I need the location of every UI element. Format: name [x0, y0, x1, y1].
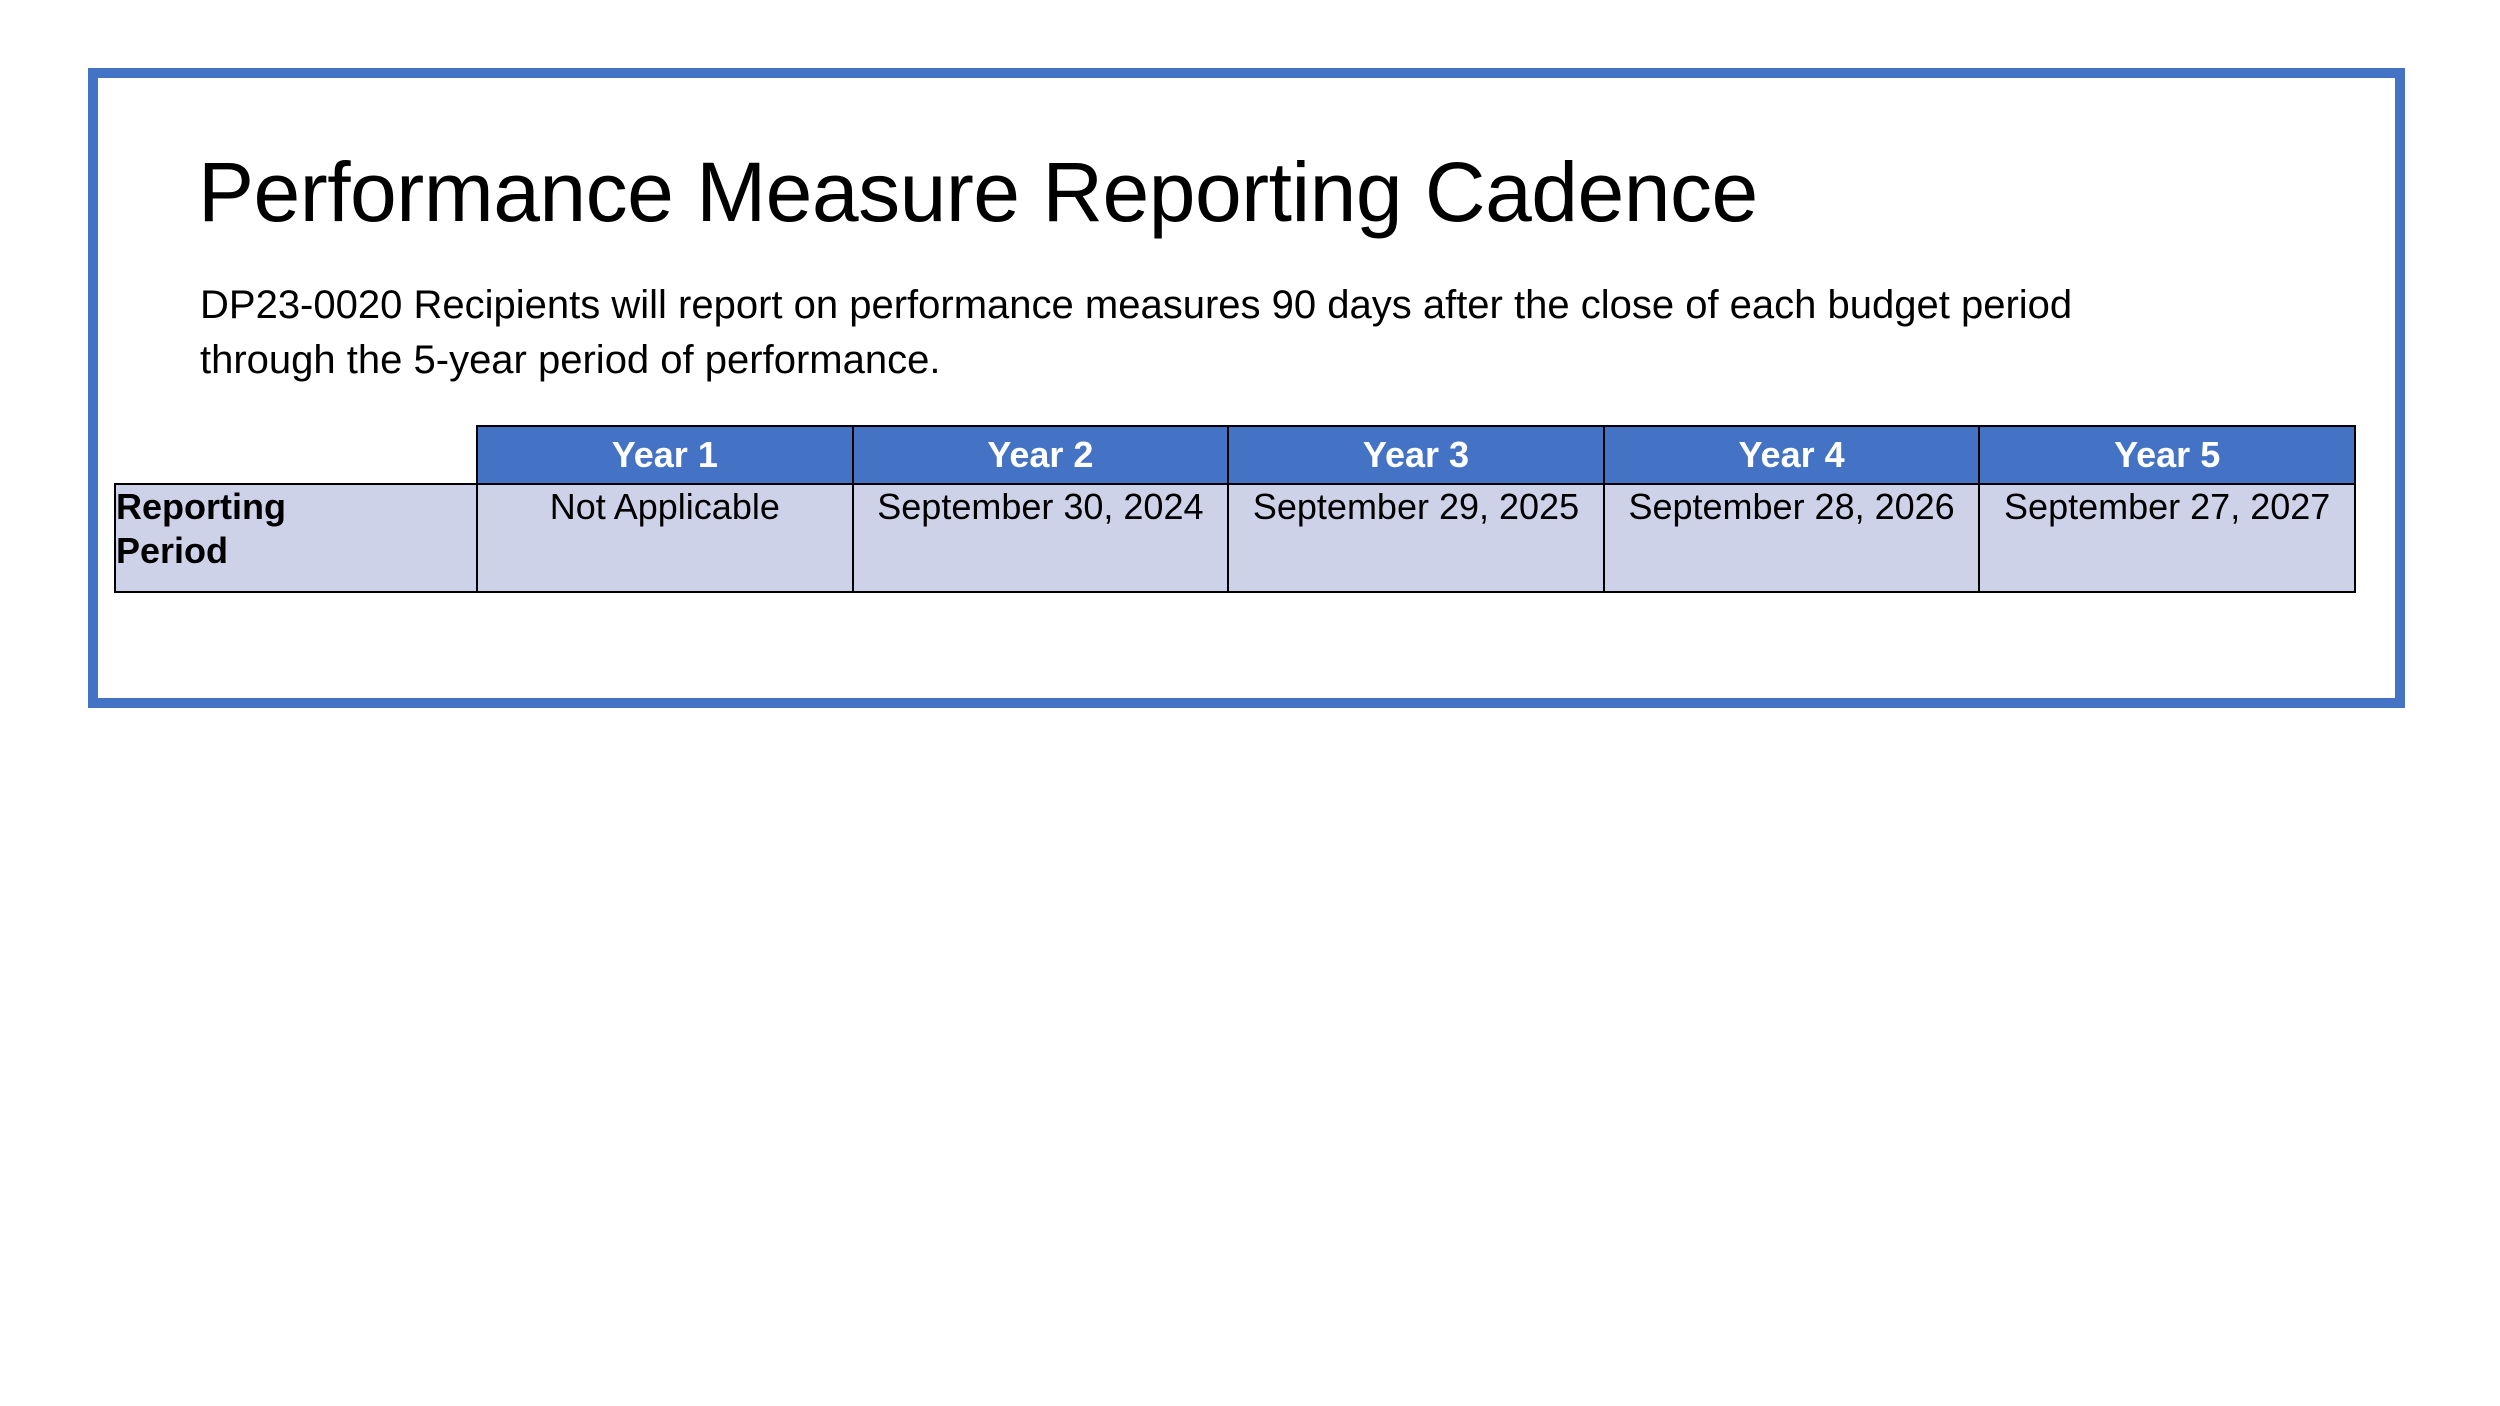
- row-label-line-1: Reporting: [116, 485, 476, 529]
- table-corner-cell: [115, 426, 477, 484]
- slide-description: DP23-0020 Recipients will report on perf…: [200, 278, 2260, 388]
- slide-description-line-2: through the 5-year period of performance…: [200, 333, 2260, 388]
- cell-reporting-period-year-4: September 28, 2026: [1604, 484, 1980, 592]
- column-header-year-2: Year 2: [853, 426, 1229, 484]
- table-row: Reporting Period Not Applicable Septembe…: [115, 484, 2355, 592]
- page-title: Performance Measure Reporting Cadence: [198, 150, 2298, 234]
- cell-reporting-period-year-3: September 29, 2025: [1228, 484, 1604, 592]
- column-header-year-5: Year 5: [1979, 426, 2355, 484]
- cell-reporting-period-year-2: September 30, 2024: [853, 484, 1229, 592]
- slide-frame: Performance Measure Reporting Cadence DP…: [88, 68, 2405, 708]
- row-label-line-2: Period: [116, 529, 476, 573]
- column-header-year-4: Year 4: [1604, 426, 1980, 484]
- column-header-year-1: Year 1: [477, 426, 853, 484]
- table-header-row: Year 1 Year 2 Year 3 Year 4 Year 5: [115, 426, 2355, 484]
- row-label-reporting-period: Reporting Period: [115, 484, 477, 592]
- cell-reporting-period-year-1: Not Applicable: [477, 484, 853, 592]
- cell-reporting-period-year-5: September 27, 2027: [1979, 484, 2355, 592]
- slide-description-line-1: DP23-0020 Recipients will report on perf…: [200, 278, 2260, 333]
- column-header-year-3: Year 3: [1228, 426, 1604, 484]
- reporting-cadence-table: Year 1 Year 2 Year 3 Year 4 Year 5 Repor…: [114, 425, 2356, 593]
